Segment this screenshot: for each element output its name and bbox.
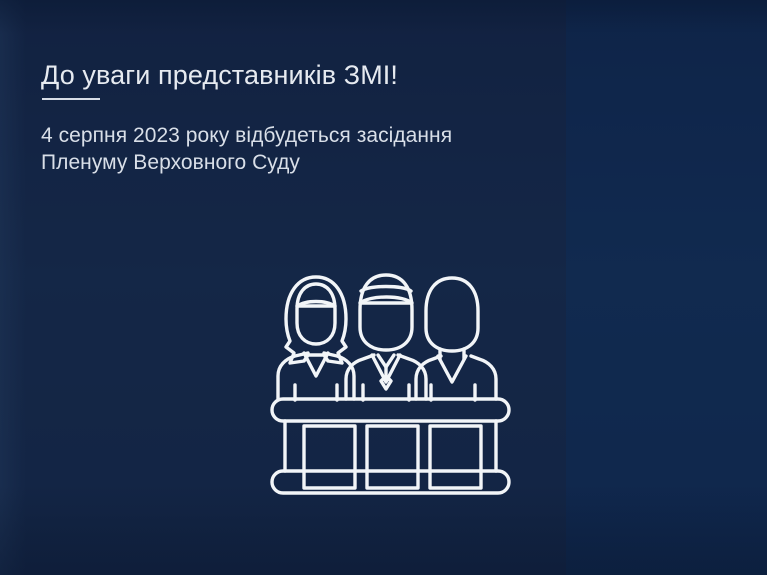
banner-canvas: До уваги представників ЗМІ! 4 серпня 202… — [0, 0, 767, 575]
title-divider — [42, 98, 100, 100]
page-title: До уваги представників ЗМІ! — [41, 58, 398, 92]
page-subtitle: 4 серпня 2023 року відбудеться засідання… — [41, 122, 452, 176]
page-subtitle-line-1: 4 серпня 2023 року відбудеться засідання — [41, 122, 452, 149]
judge-figure-left — [278, 277, 354, 400]
judge-figure-center — [346, 275, 426, 400]
page-subtitle-line-2: Пленуму Верховного Суду — [41, 149, 452, 176]
judge-figure-right — [416, 278, 496, 400]
courtroom-bench — [272, 399, 509, 493]
judges-bench-icon — [268, 243, 513, 499]
banner-content: До уваги представників ЗМІ! 4 серпня 202… — [0, 0, 767, 575]
